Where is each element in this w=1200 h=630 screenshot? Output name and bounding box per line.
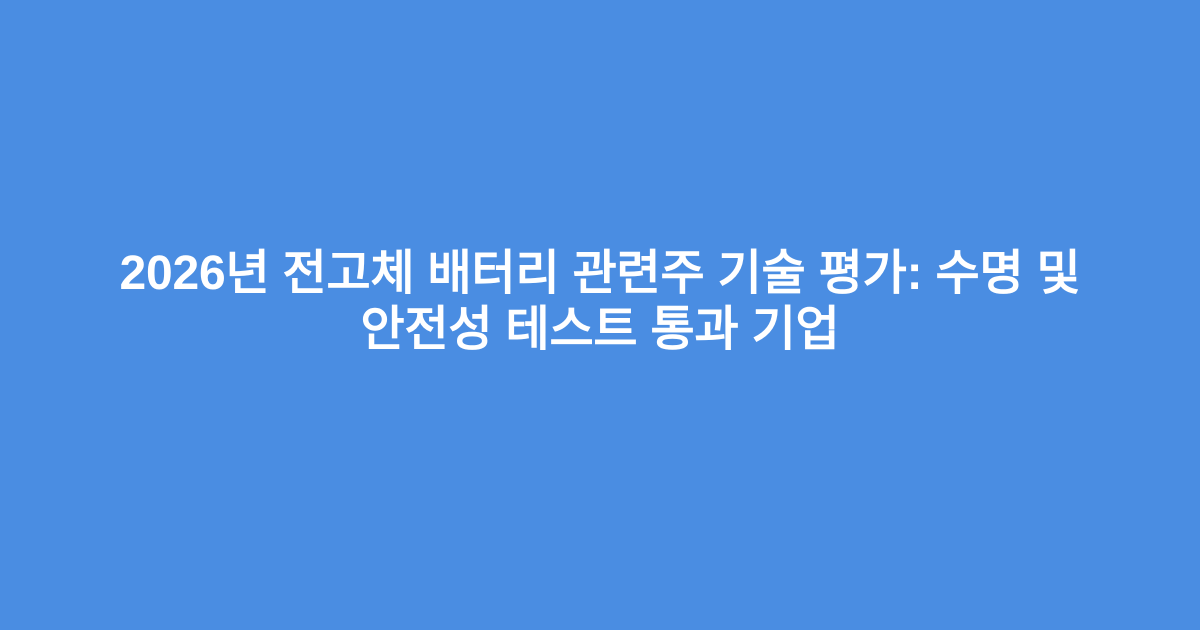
card-content-block: 2026년 전고체 배터리 관련주 기술 평가: 수명 및 안전성 테스트 통과… bbox=[60, 246, 1140, 358]
og-share-card: 2026년 전고체 배터리 관련주 기술 평가: 수명 및 안전성 테스트 통과… bbox=[0, 0, 1200, 630]
card-title: 2026년 전고체 배터리 관련주 기술 평가: 수명 및 안전성 테스트 통과… bbox=[60, 246, 1140, 358]
